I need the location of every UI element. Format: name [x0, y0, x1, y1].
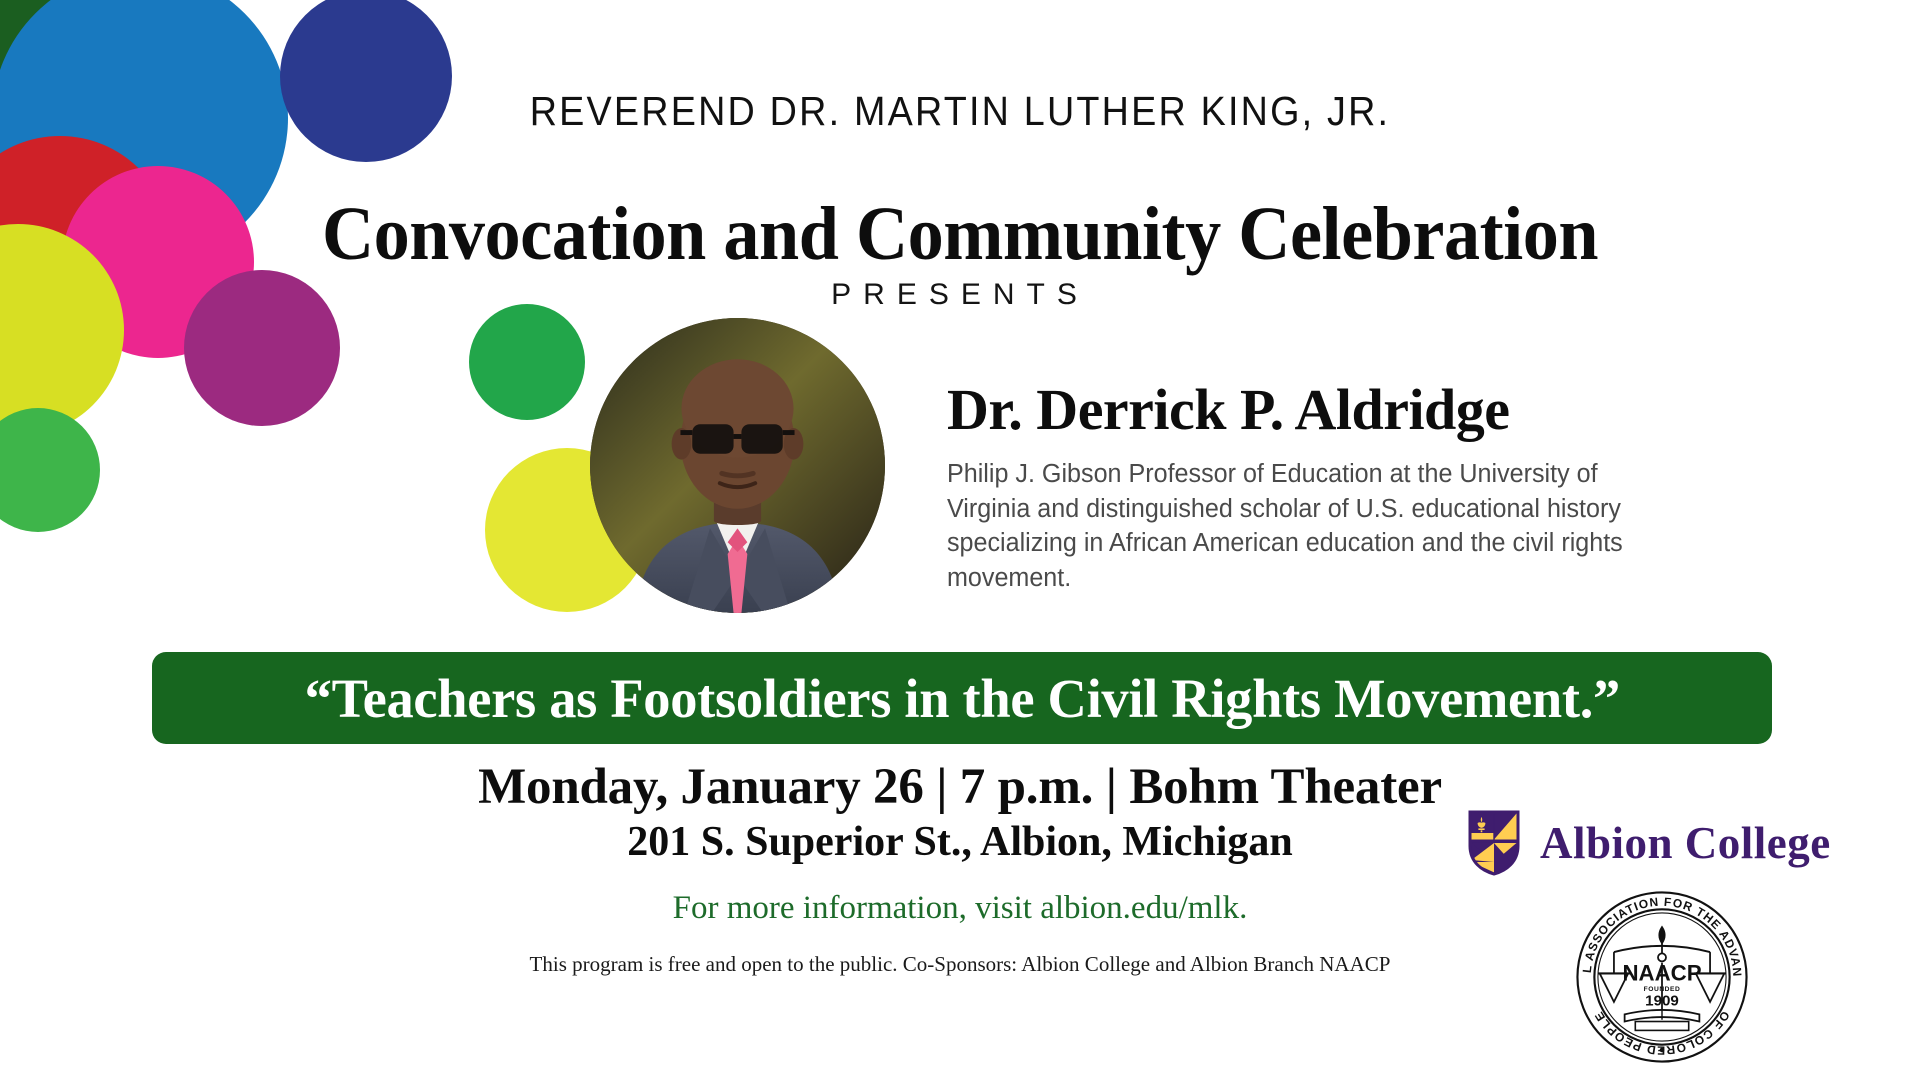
naacp-ring-dot — [1660, 1048, 1665, 1053]
naacp-seal-logo: NATIONAL ASSOCIATION FOR THE ADVANCEMENT… — [1573, 888, 1751, 1066]
presents-label: PRESENTS — [0, 278, 1920, 312]
decor-dot-navy — [280, 0, 452, 162]
naacp-founded-year: 1909 — [1645, 992, 1679, 1009]
speaker-portrait — [590, 318, 885, 613]
speaker-bio: Philip J. Gibson Professor of Education … — [947, 457, 1681, 596]
decor-dot-green-light — [0, 408, 100, 532]
albion-wordmark: Albion College — [1540, 817, 1831, 869]
portrait-illustration — [590, 318, 885, 613]
eyebrow-heading: REVEREND DR. MARTIN LUTHER KING, JR. — [77, 88, 1843, 135]
albion-shield-icon — [1468, 810, 1520, 876]
speaker-section: Dr. Derrick P. Aldridge Philip J. Gibson… — [590, 318, 1800, 613]
poster-canvas: REVEREND DR. MARTIN LUTHER KING, JR. Con… — [0, 0, 1920, 1080]
event-dateline: Monday, January 26 | 7 p.m. | Bohm Theat… — [0, 758, 1920, 816]
page-title: Convocation and Community Celebration — [48, 191, 1872, 278]
naacp-acronym: NAACP — [1622, 961, 1701, 986]
decor-dot-green-accent — [469, 304, 585, 420]
naacp-seal-icon: NATIONAL ASSOCIATION FOR THE ADVANCEMENT… — [1573, 888, 1751, 1066]
open-book-icon — [1625, 1009, 1700, 1030]
talk-title-banner: “Teachers as Footsoldiers in the Civil R… — [152, 652, 1772, 744]
speaker-name: Dr. Derrick P. Aldridge — [947, 380, 1692, 441]
albion-college-logo: Albion College — [1468, 810, 1831, 876]
speaker-details: Dr. Derrick P. Aldridge Philip J. Gibson… — [947, 318, 1692, 596]
talk-title-text: “Teachers as Footsoldiers in the Civil R… — [304, 667, 1619, 730]
